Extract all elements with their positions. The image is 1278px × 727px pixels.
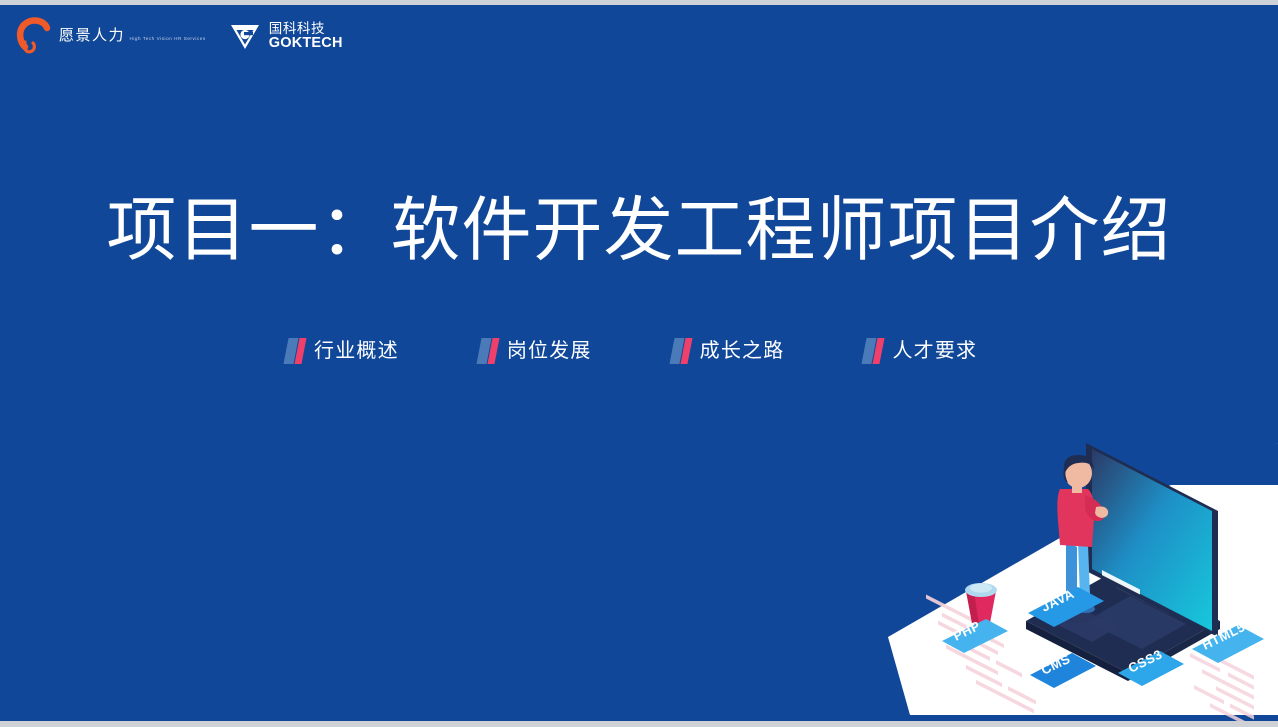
- logo-goktech-text: 国科科技 GOKTECH: [269, 21, 343, 52]
- isometric-developer-illustration: PHP JAVA CMS CSS3 HTML5: [880, 425, 1278, 721]
- nav-item-label: 人才要求: [892, 341, 977, 361]
- nav-marker-icon: [672, 338, 691, 364]
- nav-item-label: 岗位发展: [507, 341, 592, 361]
- logo-goktech-name-en: GOKTECH: [269, 36, 343, 52]
- nav-item-label: 行业概述: [314, 341, 399, 361]
- nav-marker-icon: [286, 338, 305, 364]
- logo-goktech: 国科科技 GOKTECH: [228, 19, 343, 53]
- slide-canvas: 愿景人力 High Tech Vision HR Services 国科科技 G…: [0, 5, 1278, 721]
- logo-yuanjing-text: 愿景人力 High Tech Vision HR Services: [59, 27, 206, 45]
- page-title: 项目一：软件开发工程师项目介绍: [0, 190, 1278, 271]
- nav-item-industry-overview[interactable]: 行业概述: [286, 338, 399, 364]
- nav-item-growth-path[interactable]: 成长之路: [672, 338, 785, 364]
- nav-marker-icon: [479, 338, 498, 364]
- logo-goktech-name-cn: 国科科技: [269, 21, 343, 36]
- orange-swirl-icon: [14, 16, 52, 56]
- nav-marker-icon: [864, 338, 883, 364]
- logo-yuanjing: 愿景人力 High Tech Vision HR Services: [14, 16, 206, 56]
- goktech-shield-icon: [228, 19, 262, 53]
- nav-item-talent-requirements[interactable]: 人才要求: [864, 338, 977, 364]
- logo-yuanjing-name-en: High Tech Vision HR Services: [129, 36, 205, 41]
- section-nav: 行业概述 岗位发展 成长之路 人才要求: [286, 338, 977, 364]
- bottom-edge-bar: [0, 721, 1278, 727]
- nav-item-position-development[interactable]: 岗位发展: [479, 338, 592, 364]
- logo-bar: 愿景人力 High Tech Vision HR Services 国科科技 G…: [14, 13, 343, 59]
- slide-root: 愿景人力 High Tech Vision HR Services 国科科技 G…: [0, 0, 1278, 727]
- logo-yuanjing-name-cn: 愿景人力: [59, 27, 125, 44]
- nav-item-label: 成长之路: [700, 341, 785, 361]
